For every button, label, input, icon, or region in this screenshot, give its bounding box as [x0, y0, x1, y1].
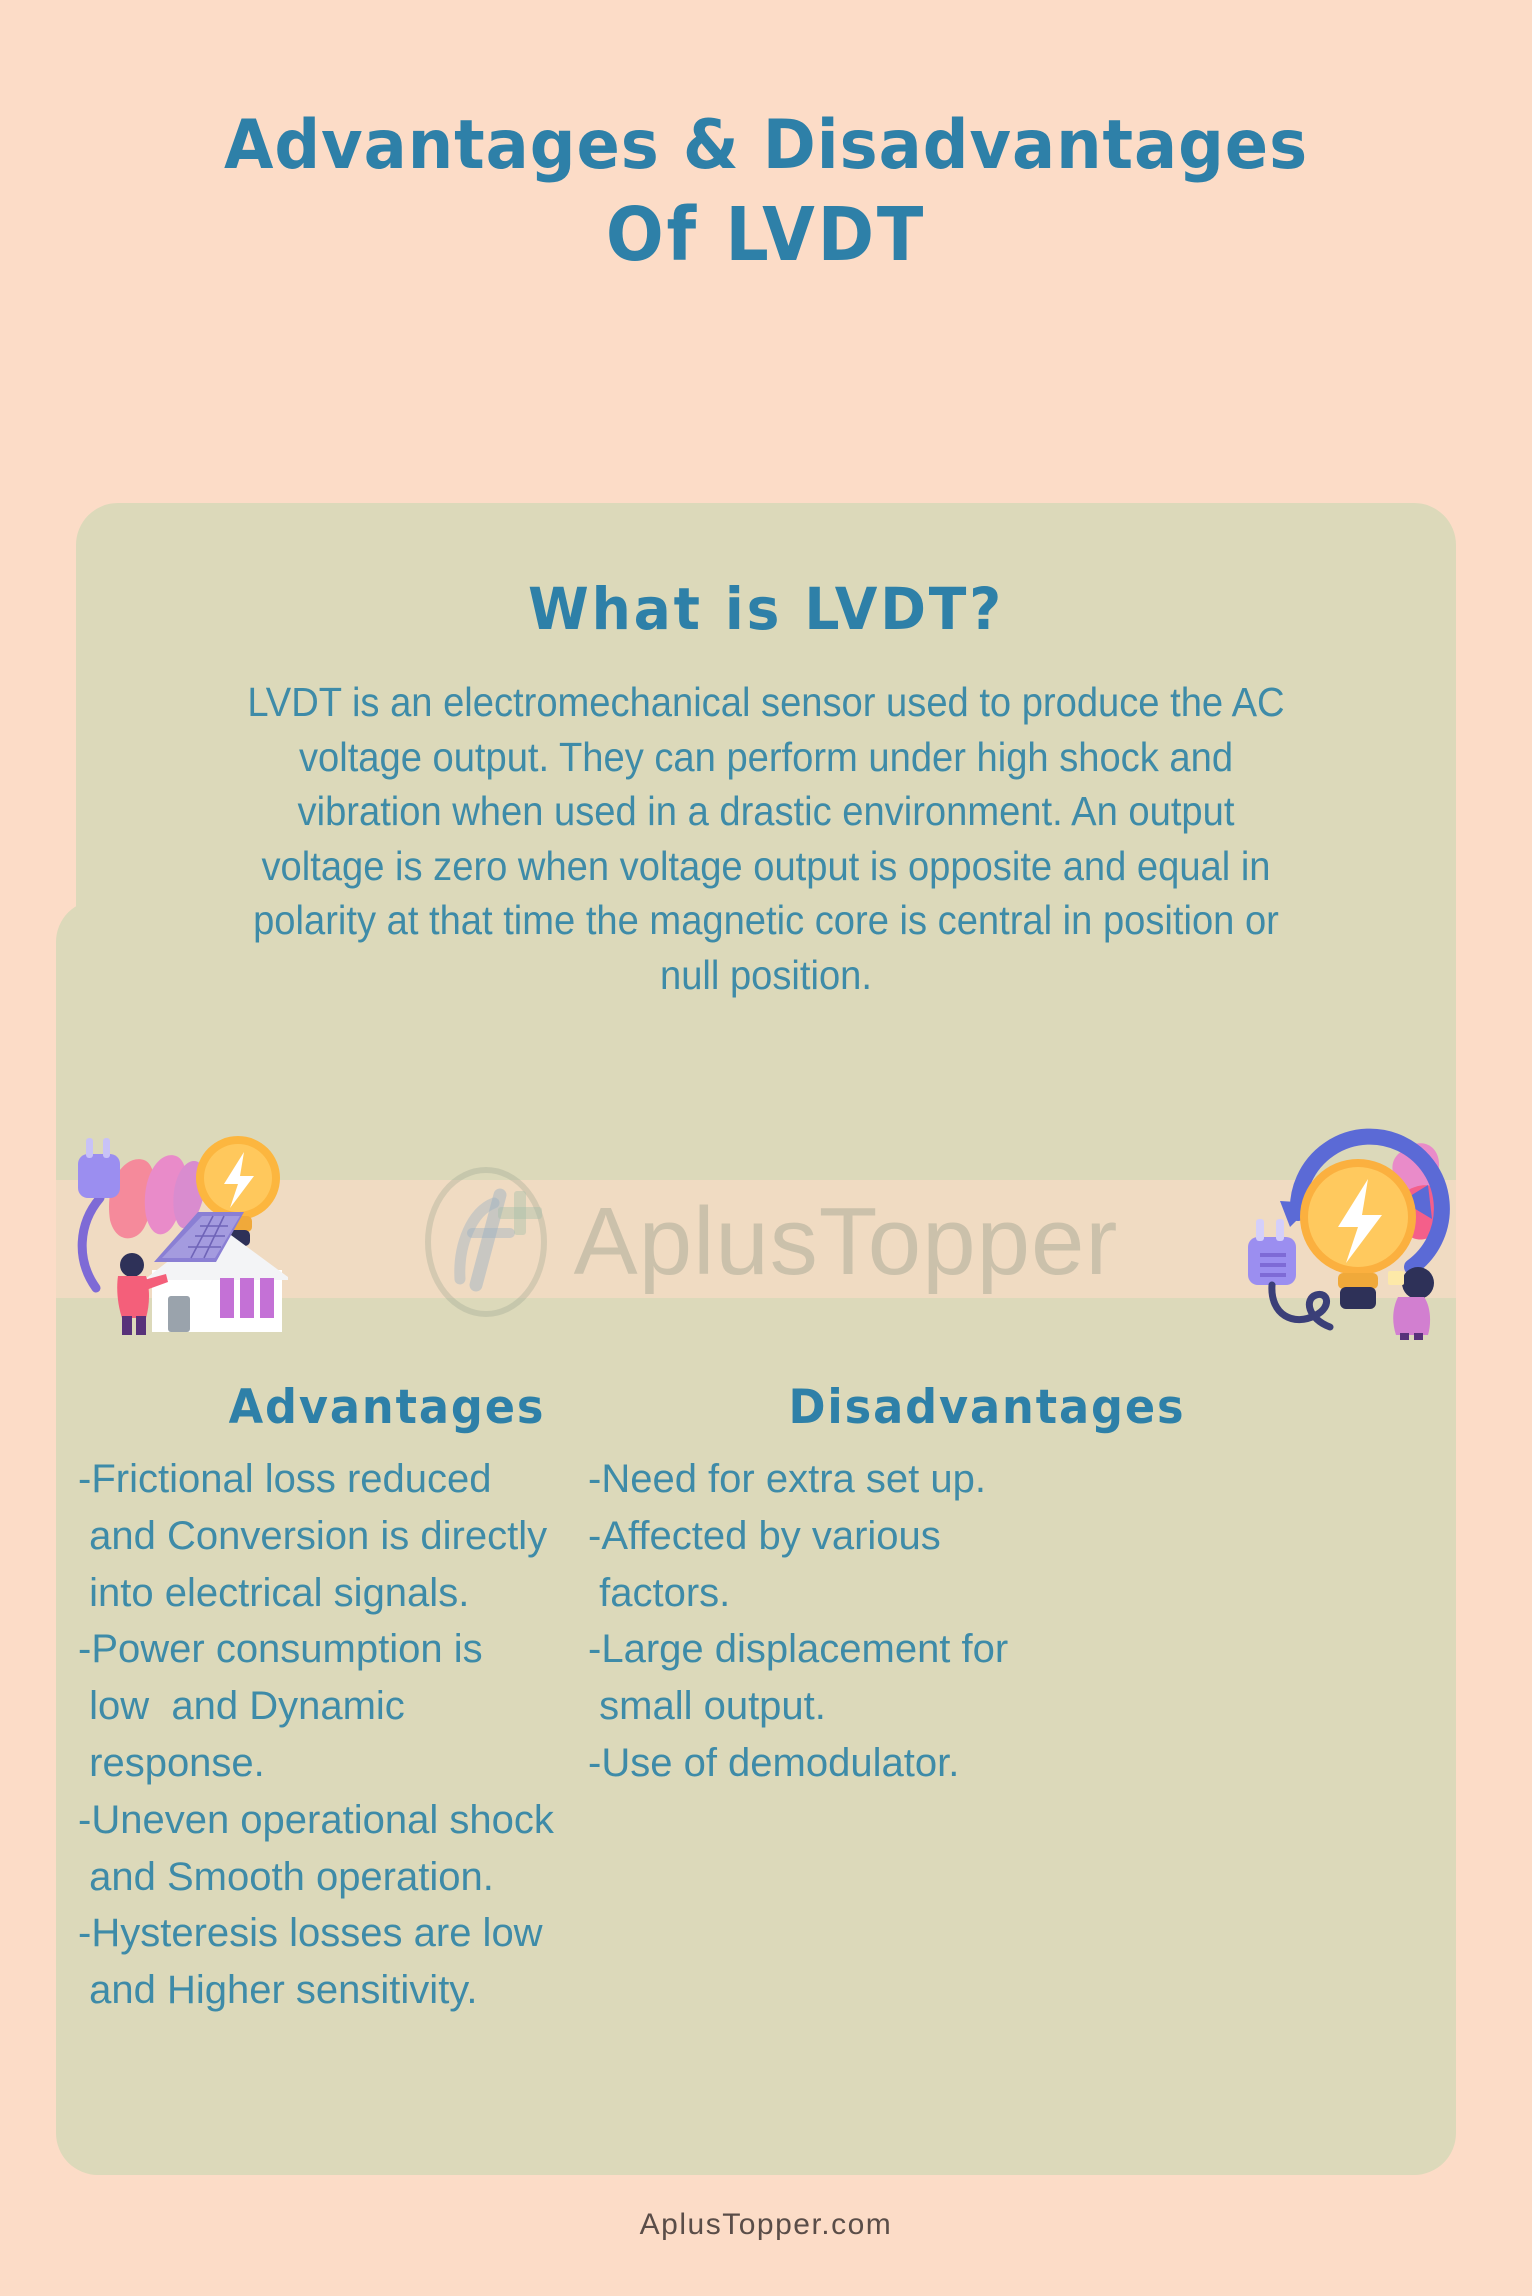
disadvantages-column: Disadvantages -Need for extra set up. -A…: [540, 1380, 1456, 1792]
house-solar-illustration: [48, 1120, 288, 1335]
intro-paragraph: LVDT is an electromechanical sensor used…: [245, 675, 1287, 1002]
footer-site-name: AplusTopper.com: [0, 2208, 1532, 2242]
intro-heading: What is LVDT?: [111, 575, 1422, 643]
lightbulb-recycle-illustration: [1232, 1115, 1492, 1340]
list-item: -Use of demodulator.: [588, 1735, 1228, 1792]
infographic-page: Advantages & Disadvantages Of LVDT What …: [0, 0, 1532, 2296]
title-line-secondary: Of LVDT: [61, 195, 1470, 276]
list-item: -Need for extra set up.: [588, 1451, 1228, 1508]
title-line-primary: Advantages & Disadvantages: [46, 110, 1486, 181]
list-item: -Large displacement for small output.: [588, 1621, 1228, 1735]
list-item: -Uneven operational shock and Smooth ope…: [78, 1792, 698, 1906]
disadvantages-heading: Disadvantages: [541, 1380, 1432, 1435]
list-item: -Hysteresis losses are low and Higher se…: [78, 1905, 698, 2019]
page-title: Advantages & Disadvantages Of LVDT: [0, 110, 1532, 277]
intro-card-content: What is LVDT? LVDT is an electromechanic…: [76, 503, 1456, 1002]
list-item: -Affected by various factors.: [588, 1508, 1228, 1622]
disadvantages-list: -Need for extra set up. -Affected by var…: [540, 1451, 1228, 1792]
